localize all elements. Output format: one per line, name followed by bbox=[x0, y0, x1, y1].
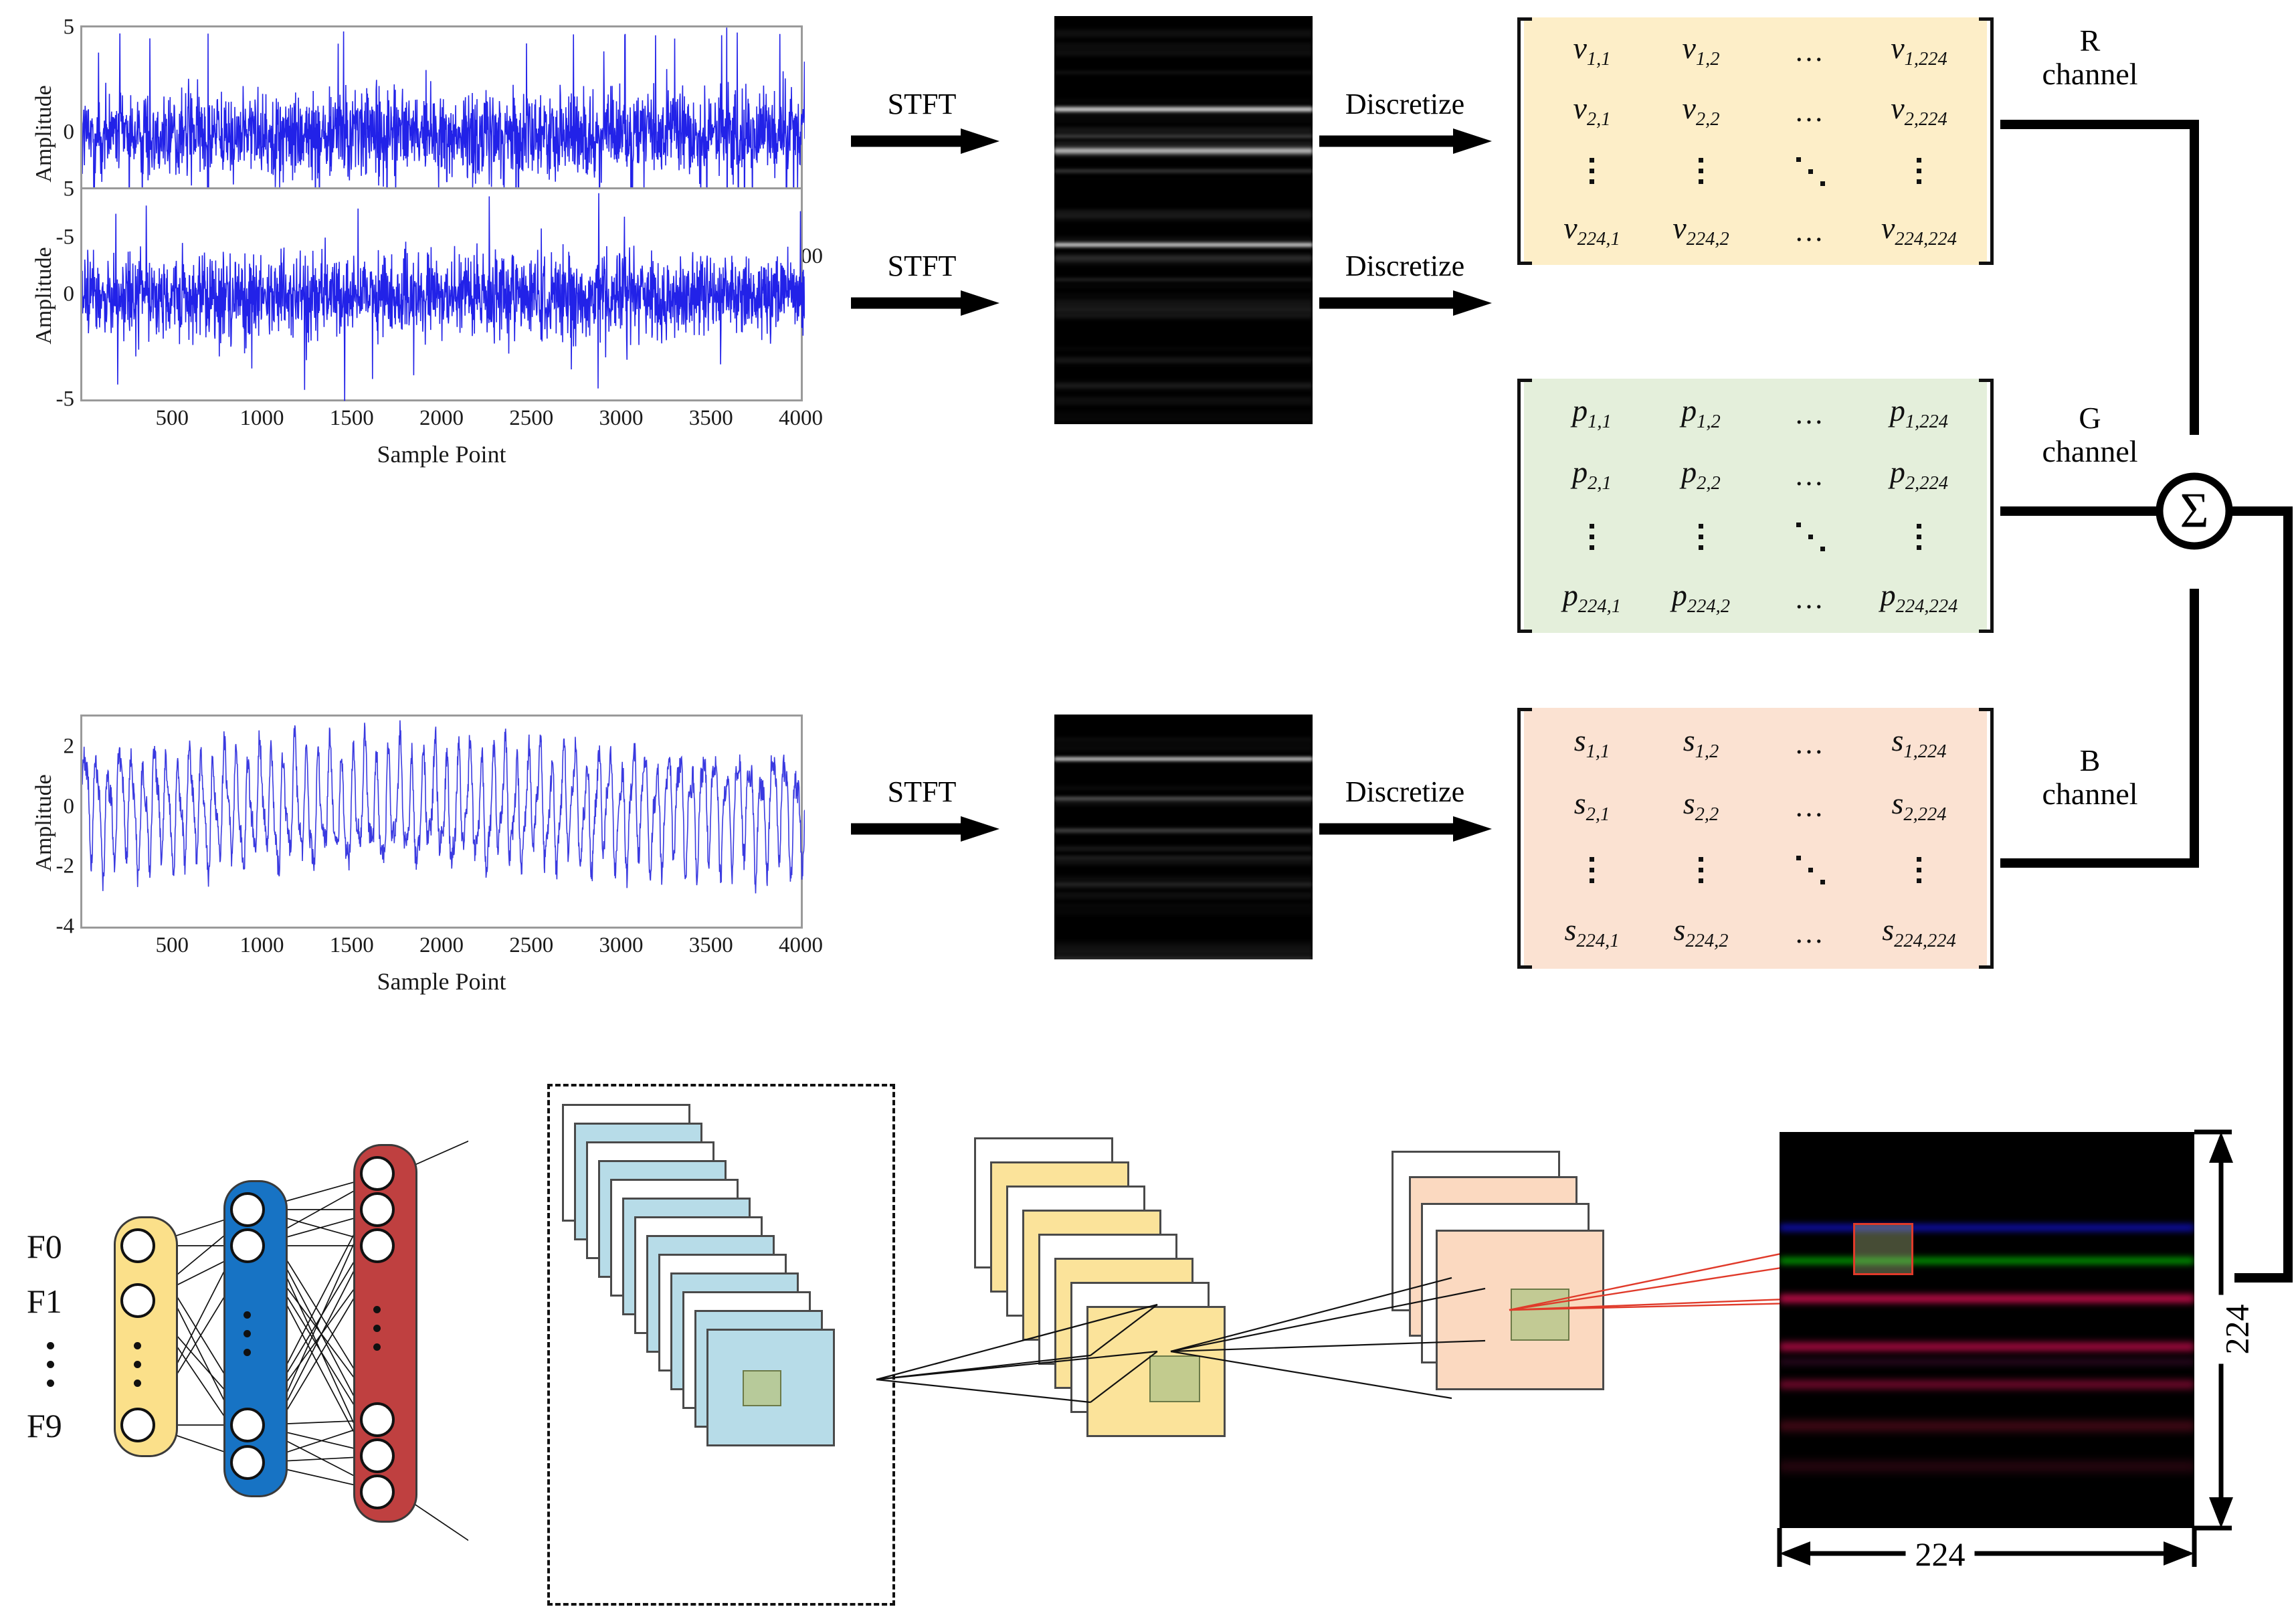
discretize-label-g: Discretize bbox=[1345, 249, 1464, 283]
summation-symbol: Σ bbox=[2180, 483, 2208, 540]
mlp-node bbox=[360, 1228, 395, 1263]
rgb-width-label: 224 bbox=[1906, 1535, 1975, 1574]
spectrogram-band bbox=[1054, 827, 1313, 834]
matrix-cell: s224,224 bbox=[1882, 915, 1956, 951]
spectrogram-texture bbox=[1054, 154, 1313, 157]
matrix-cell: p224,2 bbox=[1672, 580, 1730, 617]
channel-label-r: R channel bbox=[2003, 24, 2177, 90]
matrix-hdots: … bbox=[1794, 458, 1826, 492]
rgb-dimension-arrows bbox=[1753, 1117, 2261, 1599]
spectrogram-texture bbox=[1054, 418, 1313, 420]
spectrogram-band bbox=[1054, 277, 1313, 282]
spectrogram-texture bbox=[1054, 112, 1313, 118]
spectrogram-texture bbox=[1054, 757, 1313, 759]
matrix-cell: v224,2 bbox=[1672, 213, 1729, 250]
discretize-arrow-b bbox=[1317, 814, 1495, 844]
spectrogram-texture bbox=[1054, 384, 1313, 389]
ytick-b-3: -4 bbox=[56, 915, 75, 939]
matrix-cell: p2,1 bbox=[1572, 457, 1612, 494]
matrix-vdots bbox=[1917, 524, 1921, 550]
spectrogram-texture bbox=[1054, 305, 1313, 308]
matrix-cell: p1,224 bbox=[1890, 395, 1948, 432]
spectrogram-texture bbox=[1054, 171, 1313, 173]
xtick-b-5: 3000 bbox=[599, 933, 644, 958]
xtick-b-7: 4000 bbox=[779, 933, 823, 958]
matrix-vdots bbox=[1917, 857, 1921, 883]
x-axis-label-g: Sample Point bbox=[377, 440, 506, 468]
xtick-g-1: 1000 bbox=[240, 406, 284, 431]
matrix-ddots bbox=[1795, 854, 1826, 885]
matrix-r: vv1,11,1 v1,2 … v1,224 v2,1 v2,2 … v2,22… bbox=[1517, 17, 1994, 265]
spectrogram-texture bbox=[1054, 141, 1313, 145]
xtick-b-2: 1500 bbox=[330, 933, 374, 958]
spectrogram-texture bbox=[1054, 859, 1313, 864]
matrix-cell: p1,1 bbox=[1572, 395, 1612, 432]
ytick-g-0: 5 bbox=[64, 177, 75, 202]
mlp-node bbox=[360, 1192, 395, 1227]
spectrogram-texture bbox=[1054, 311, 1313, 318]
matrix-cell: s1,1 bbox=[1574, 725, 1610, 762]
matrix-cell: vv1,11,1 bbox=[1573, 33, 1610, 70]
mlp-node bbox=[230, 1445, 265, 1480]
stft-arrow-g bbox=[848, 288, 1002, 318]
matrix-cell: v2,224 bbox=[1891, 93, 1947, 130]
matrix-g: p1,1 p1,2 … p1,224 p2,1 p2,2 … p2,224 p2… bbox=[1517, 379, 1994, 633]
spectrogram-texture bbox=[1054, 359, 1313, 362]
stft-arrow-r bbox=[848, 126, 1002, 157]
matrix-ddots bbox=[1795, 521, 1826, 552]
ytick-b-1: 0 bbox=[64, 794, 75, 819]
spectrogram-texture bbox=[1054, 127, 1313, 135]
spectrogram-texture bbox=[1054, 743, 1313, 749]
matrix-vdots bbox=[1917, 158, 1921, 184]
stft-label-g: STFT bbox=[888, 249, 957, 283]
matrix-r-bracket-right bbox=[1979, 17, 1994, 265]
plot-axes-b: 2 0 -2 -4 500 1000 1500 2000 2500 3000 3… bbox=[80, 715, 803, 929]
matrix-vdots bbox=[1590, 158, 1594, 184]
mlp-feature-label-f1: F1 bbox=[27, 1282, 62, 1321]
spectrogram-texture bbox=[1054, 29, 1313, 37]
stft-arrow-b bbox=[848, 814, 1002, 844]
matrix-vdots bbox=[1590, 857, 1594, 883]
matrix-vdots bbox=[1699, 158, 1703, 184]
xtick-g-7: 4000 bbox=[779, 406, 823, 431]
matrix-cell: v2,2 bbox=[1682, 93, 1719, 130]
plot-axes-g: 5 0 -5 500 1000 1500 2000 2500 3000 3500… bbox=[80, 187, 803, 401]
stft-label-r: STFT bbox=[888, 87, 957, 121]
mlp-node bbox=[120, 1283, 155, 1318]
discretize-arrow-g bbox=[1317, 288, 1495, 318]
spectrogram-texture bbox=[1054, 209, 1313, 212]
discretize-label-b: Discretize bbox=[1345, 775, 1464, 809]
spectrogram-texture bbox=[1054, 799, 1313, 805]
spectrogram-texture bbox=[1054, 397, 1313, 405]
xtick-g-6: 3500 bbox=[689, 406, 733, 431]
matrix-cell: v1,2 bbox=[1682, 33, 1719, 70]
spectrogram-texture bbox=[1054, 846, 1313, 852]
spectrogram-texture bbox=[1054, 284, 1313, 288]
spectrogram-texture bbox=[1054, 739, 1313, 741]
spectrogram-texture bbox=[1054, 876, 1313, 884]
spectrogram-texture bbox=[1054, 254, 1313, 261]
xtick-g-5: 3000 bbox=[599, 406, 644, 431]
xtick-g-4: 2500 bbox=[509, 406, 553, 431]
matrix-b: s1,1 s1,2 … s1,224 s2,1 s2,2 … s2,224 s2… bbox=[1517, 708, 1994, 969]
xtick-b-4: 2500 bbox=[509, 933, 553, 958]
matrix-cell: p2,224 bbox=[1890, 457, 1948, 494]
spectrogram-texture bbox=[1054, 892, 1313, 898]
matrix-cell: s2,224 bbox=[1891, 788, 1946, 825]
matrix-cell: v224,224 bbox=[1881, 213, 1957, 250]
y-axis-label-r: Amplitude bbox=[31, 85, 57, 182]
x-axis-label-b: Sample Point bbox=[377, 967, 506, 996]
matrix-r-bracket-left bbox=[1517, 17, 1532, 265]
xtick-g-0: 500 bbox=[156, 406, 189, 431]
spectrogram-texture bbox=[1054, 214, 1313, 221]
matrix-g-bracket-left bbox=[1517, 379, 1532, 633]
spectrogram-texture bbox=[1054, 903, 1313, 909]
matrix-hdots: … bbox=[1794, 34, 1826, 68]
matrix-b-bracket-left bbox=[1517, 708, 1532, 969]
mlp-node bbox=[120, 1408, 155, 1442]
spectrogram-g bbox=[1054, 179, 1313, 424]
matrix-hdots: … bbox=[1794, 581, 1826, 616]
matrix-ddots bbox=[1795, 156, 1826, 187]
y-axis-label-b: Amplitude bbox=[31, 774, 57, 871]
matrix-vdots bbox=[1699, 857, 1703, 883]
rgb-height-label: 224 bbox=[2218, 1295, 2257, 1364]
channel-letter-r: R bbox=[2003, 24, 2177, 58]
mlp-node bbox=[360, 1475, 395, 1509]
matrix-cell: v1,224 bbox=[1891, 33, 1947, 70]
matrix-hdots: … bbox=[1794, 397, 1826, 431]
matrix-vdots bbox=[1590, 524, 1594, 550]
xtick-b-6: 3500 bbox=[689, 933, 733, 958]
mlp-hidden-dots bbox=[244, 1311, 251, 1356]
discretize-arrow-r bbox=[1317, 126, 1495, 157]
xtick-g-3: 2000 bbox=[419, 406, 464, 431]
matrix-vdots bbox=[1699, 524, 1703, 550]
spectrogram-texture bbox=[1054, 51, 1313, 56]
mlp-node bbox=[360, 1156, 395, 1191]
spectrogram-band bbox=[1054, 70, 1313, 75]
matrix-cell: v224,1 bbox=[1563, 213, 1620, 250]
spectrogram-b bbox=[1054, 715, 1313, 959]
matrix-cell: s2,1 bbox=[1574, 788, 1610, 825]
matrix-hdots: … bbox=[1794, 789, 1826, 824]
signal-plot-b: 2 0 -2 -4 500 1000 1500 2000 2500 3000 3… bbox=[27, 709, 803, 937]
matrix-g-bracket-right bbox=[1979, 379, 1994, 633]
spectrogram-texture bbox=[1054, 348, 1313, 350]
signal-trace-b bbox=[82, 717, 805, 931]
xtick-b-0: 500 bbox=[156, 933, 189, 958]
matrix-hdots: … bbox=[1794, 214, 1826, 248]
matrix-cell: p2,2 bbox=[1681, 457, 1721, 494]
matrix-cell: p224,224 bbox=[1881, 580, 1958, 617]
spectrogram-texture bbox=[1054, 106, 1313, 110]
ytick-g-2: -5 bbox=[56, 387, 75, 412]
mlp-node bbox=[120, 1228, 155, 1263]
matrix-cell: p1,2 bbox=[1681, 395, 1721, 432]
y-axis-label-g: Amplitude bbox=[31, 247, 57, 344]
spectrogram-texture bbox=[1054, 787, 1313, 789]
signal-trace-g bbox=[82, 189, 805, 403]
matrix-hdots: … bbox=[1794, 727, 1826, 761]
ytick-r-1: 0 bbox=[64, 120, 75, 145]
mlp-node bbox=[230, 1192, 265, 1227]
matrix-cell: s1,2 bbox=[1683, 725, 1719, 762]
matrix-hdots: … bbox=[1794, 916, 1826, 950]
matrix-cell: s2,2 bbox=[1683, 788, 1719, 825]
xtick-b-1: 1000 bbox=[240, 933, 284, 958]
mlp-feature-label-f0: F0 bbox=[27, 1227, 62, 1266]
spectrogram-texture bbox=[1054, 294, 1313, 297]
stft-label-b: STFT bbox=[888, 775, 957, 809]
spectrogram-texture bbox=[1054, 43, 1313, 51]
signal-plot-g: 5 0 -5 500 1000 1500 2000 2500 3000 3500… bbox=[27, 182, 803, 409]
xtick-b-3: 2000 bbox=[419, 933, 464, 958]
matrix-cell: p224,1 bbox=[1563, 580, 1621, 617]
matrix-cell: s224,2 bbox=[1673, 915, 1728, 951]
spectrogram-texture bbox=[1054, 100, 1313, 103]
spectrogram-texture bbox=[1054, 412, 1313, 417]
channel-word-r: channel bbox=[2003, 58, 2177, 91]
spectrogram-texture bbox=[1054, 909, 1313, 915]
mlp-node bbox=[230, 1228, 265, 1263]
matrix-cell: s224,1 bbox=[1564, 915, 1619, 951]
spectrogram-texture bbox=[1054, 238, 1313, 242]
mlp-diagram: F0 F1 F9 bbox=[0, 1131, 468, 1599]
mlp-node bbox=[360, 1438, 395, 1473]
matrix-hdots: … bbox=[1794, 94, 1826, 128]
discretize-label-r: Discretize bbox=[1345, 87, 1464, 121]
spectrogram-texture bbox=[1054, 118, 1313, 123]
mlp-output-dots bbox=[373, 1306, 381, 1351]
matrix-cell: s1,224 bbox=[1891, 725, 1946, 762]
mlp-node bbox=[360, 1402, 395, 1437]
spectrogram-texture bbox=[1054, 946, 1313, 953]
xtick-g-2: 1500 bbox=[330, 406, 374, 431]
ytick-r-0: 5 bbox=[64, 15, 75, 40]
mlp-feature-dots bbox=[47, 1342, 54, 1387]
spectrogram-texture bbox=[1054, 957, 1313, 959]
mlp-feature-label-f9: F9 bbox=[27, 1406, 62, 1445]
mlp-input-dots bbox=[134, 1342, 141, 1387]
matrix-b-bracket-right bbox=[1979, 708, 1994, 969]
matrix-cell: v2,1 bbox=[1573, 93, 1610, 130]
ytick-b-0: 2 bbox=[64, 734, 75, 759]
ytick-g-1: 0 bbox=[64, 282, 75, 307]
spectrogram-texture bbox=[1054, 884, 1313, 889]
ytick-b-2: -2 bbox=[56, 854, 75, 879]
mlp-node bbox=[230, 1408, 265, 1442]
